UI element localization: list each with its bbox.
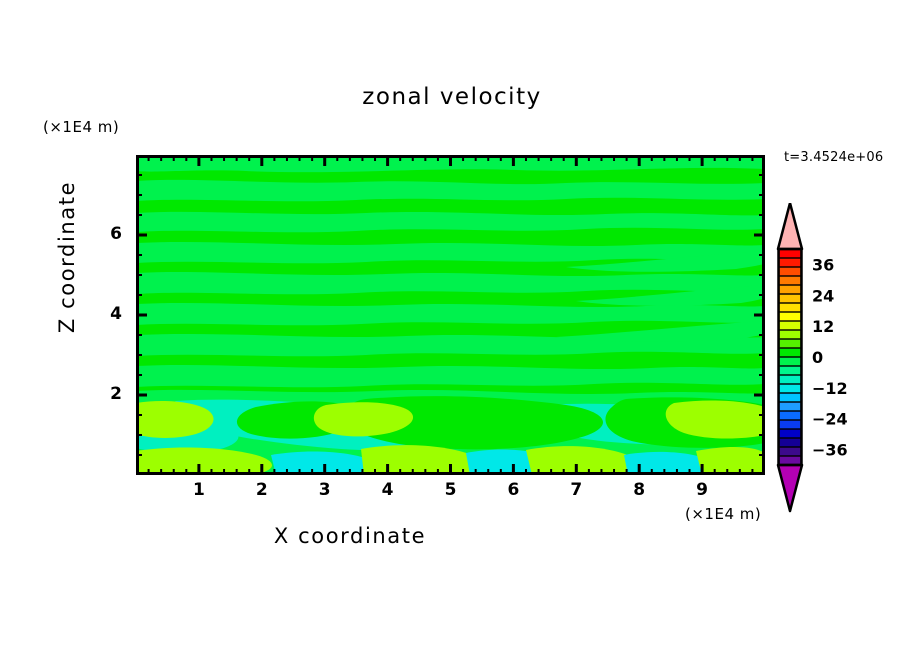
colorbar-tick-labels: 3624120−12−24−36 bbox=[812, 255, 848, 459]
colorbar-band bbox=[779, 366, 801, 376]
colorbar-band bbox=[779, 303, 801, 313]
x-tick-label: 5 bbox=[431, 480, 471, 500]
page-title: zonal velocity bbox=[0, 84, 904, 110]
x-tick-label: 8 bbox=[619, 480, 659, 500]
contour-plot bbox=[136, 155, 765, 475]
colorbar-tick-label: 12 bbox=[812, 317, 834, 336]
colorbar-band bbox=[779, 411, 801, 421]
x-tick-label: 6 bbox=[493, 480, 533, 500]
x-tick-label: 9 bbox=[682, 480, 722, 500]
colorbar-band bbox=[779, 357, 801, 367]
colorbar-band bbox=[779, 402, 801, 412]
colorbar-under-arrow bbox=[778, 465, 802, 511]
colorbar-band bbox=[779, 312, 801, 322]
colorbar-bands bbox=[779, 249, 801, 466]
y-axis-title: Z coordinate bbox=[55, 157, 79, 357]
colorbar-tick-label: 24 bbox=[812, 286, 834, 305]
x-tick-label: 1 bbox=[179, 480, 219, 500]
colorbar-band bbox=[779, 375, 801, 385]
x-tick-label: 4 bbox=[368, 480, 408, 500]
y-tick-label: 6 bbox=[96, 224, 122, 244]
colorbar-tick-label: 36 bbox=[812, 255, 834, 274]
x-tick-label-group: 123456789 bbox=[136, 480, 765, 504]
colorbar-band bbox=[779, 348, 801, 358]
colorbar-band bbox=[779, 294, 801, 304]
colorbar: 3624120−12−24−36 bbox=[776, 203, 896, 513]
colorbar-band bbox=[779, 447, 801, 457]
x-tick-label: 2 bbox=[242, 480, 282, 500]
x-tick-label: 7 bbox=[556, 480, 596, 500]
y-tick-label-group: 246 bbox=[96, 155, 130, 475]
colorbar-band bbox=[779, 384, 801, 394]
colorbar-tick-label: −12 bbox=[812, 379, 848, 398]
contour-field bbox=[136, 155, 765, 475]
colorbar-band bbox=[779, 276, 801, 286]
colorbar-band bbox=[779, 249, 801, 259]
colorbar-band bbox=[779, 420, 801, 430]
colorbar-tick-label: 0 bbox=[812, 348, 823, 367]
colorbar-band bbox=[779, 330, 801, 340]
colorbar-band bbox=[779, 285, 801, 295]
y-axis-unit-label: (×1E4 m) bbox=[43, 118, 119, 136]
colorbar-band bbox=[779, 321, 801, 331]
x-axis-unit-label: (×1E4 m) bbox=[685, 505, 761, 523]
colorbar-band bbox=[779, 267, 801, 277]
x-tick-label: 3 bbox=[305, 480, 345, 500]
contour-floor-blob-4 bbox=[696, 447, 765, 475]
y-tick-label: 2 bbox=[96, 384, 122, 404]
colorbar-band bbox=[779, 393, 801, 403]
colorbar-over-arrow bbox=[778, 203, 802, 249]
timestamp-annotation: t=3.4524e+06 bbox=[784, 150, 883, 165]
colorbar-band bbox=[779, 438, 801, 448]
y-tick-label: 4 bbox=[96, 304, 122, 324]
colorbar-tick-label: −36 bbox=[812, 441, 848, 460]
colorbar-band bbox=[779, 258, 801, 268]
colorbar-tick-label: −24 bbox=[812, 410, 848, 429]
colorbar-band bbox=[779, 339, 801, 349]
colorbar-band bbox=[779, 429, 801, 439]
x-axis-title: X coordinate bbox=[0, 524, 700, 548]
